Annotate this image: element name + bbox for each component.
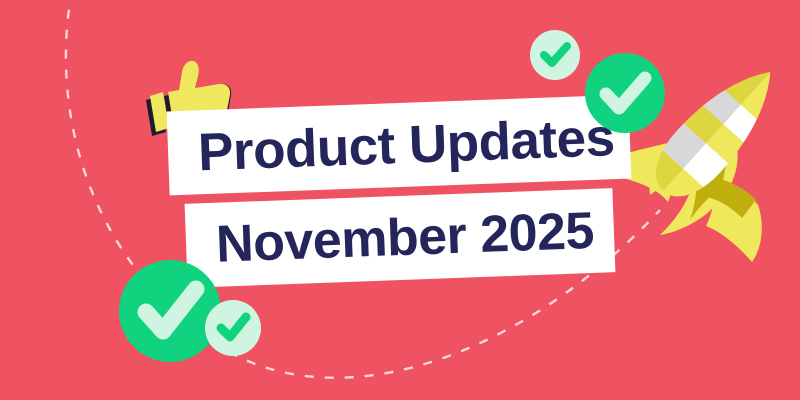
check-circle-small-top <box>530 30 580 80</box>
page-title-line-2: November 2025 <box>215 205 595 271</box>
product-updates-banner: Product Updates November 2025 <box>0 0 800 400</box>
title-band-secondary: November 2025 <box>185 188 616 288</box>
page-title-line-1: Product Updates <box>197 111 615 179</box>
title-band-primary: Product Updates <box>167 95 632 196</box>
